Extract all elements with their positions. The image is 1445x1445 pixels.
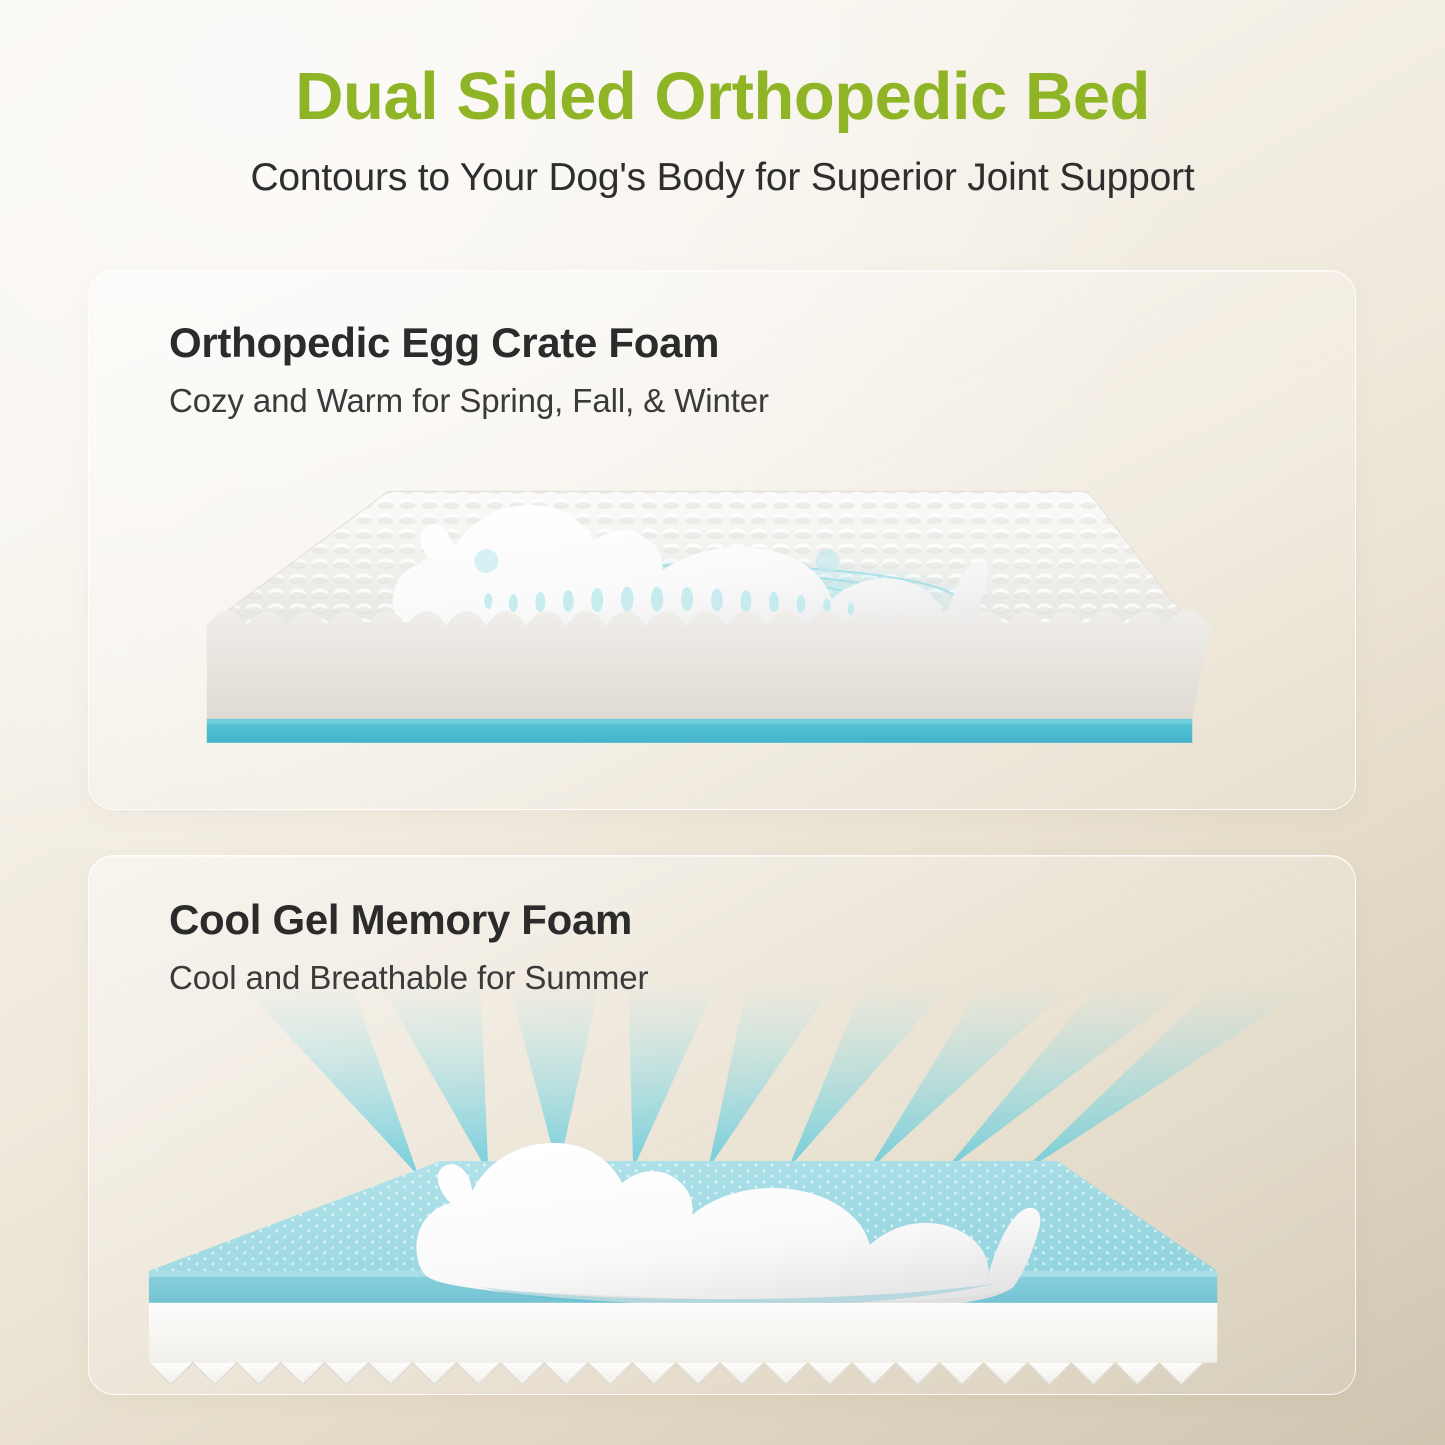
bottom-foam-layer [149, 1303, 1217, 1385]
egg-crate-foam-illustration [89, 451, 1355, 810]
page-title: Dual Sided Orthopedic Bed [0, 62, 1445, 132]
page-subtitle: Contours to Your Dog's Body for Superior… [0, 156, 1445, 200]
feature-card-egg-crate-foam: Orthopedic Egg Crate Foam Cozy and Warm … [88, 270, 1356, 810]
egg-crate-foam-svg [89, 451, 1355, 810]
card-title: Cool Gel Memory Foam [169, 896, 632, 944]
infographic-page: Dual Sided Orthopedic Bed Contours to Yo… [0, 0, 1445, 1445]
feature-card-cool-gel-foam: Cool Gel Memory Foam Cool and Breathable… [88, 855, 1356, 1395]
card-title: Orthopedic Egg Crate Foam [169, 319, 719, 367]
airflow-rays [239, 981, 1319, 1176]
header: Dual Sided Orthopedic Bed Contours to Yo… [0, 0, 1445, 200]
gel-foam-illustration [89, 981, 1355, 1395]
foam-wave-edge [207, 611, 1210, 719]
gel-foam-svg [89, 981, 1355, 1395]
card-subtitle: Cozy and Warm for Spring, Fall, & Winter [169, 382, 769, 420]
